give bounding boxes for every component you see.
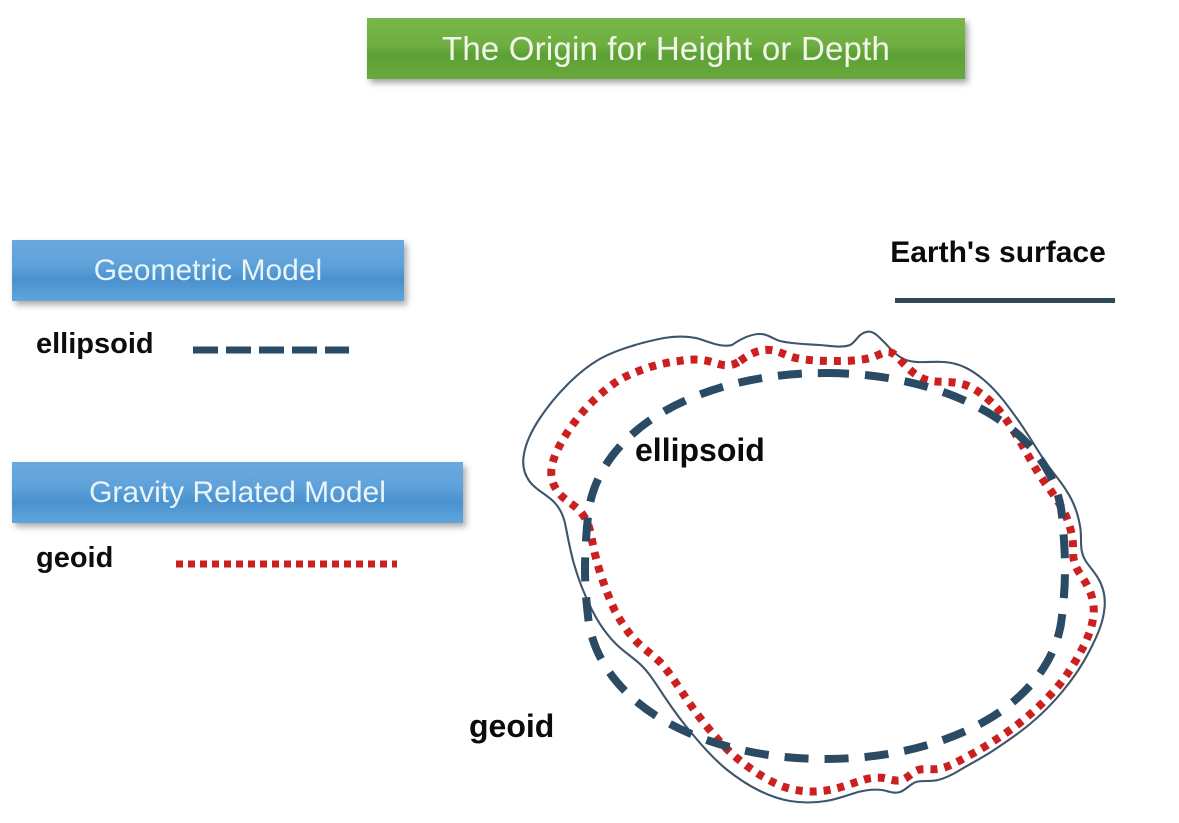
- title-banner: The Origin for Height or Depth: [367, 18, 965, 79]
- curve-ellipsoid: [585, 373, 1065, 759]
- title-banner-label: The Origin for Height or Depth: [442, 30, 890, 68]
- legend-dotted-line-sample: [175, 555, 398, 562]
- gravity-model-label: Gravity Related Model: [89, 476, 386, 510]
- gravity-model-banner: Gravity Related Model: [12, 462, 463, 523]
- legend-dashed-line-sample: [192, 341, 350, 349]
- curve-geoid: [551, 350, 1094, 792]
- geometric-model-banner: Geometric Model: [12, 240, 404, 301]
- legend-label-geoid: geoid: [36, 542, 113, 575]
- legend-label-ellipsoid: ellipsoid: [36, 328, 154, 361]
- legend-row-ellipsoid: ellipsoid: [36, 328, 350, 361]
- earth-surface-label: Earth's surface: [858, 236, 1138, 270]
- earth-diagram: [470, 300, 1179, 823]
- earth-surface-callout: Earth's surface: [858, 236, 1138, 270]
- curve-earth-surface: [523, 332, 1105, 803]
- geometric-model-label: Geometric Model: [94, 254, 322, 288]
- legend-row-geoid: geoid: [36, 542, 398, 575]
